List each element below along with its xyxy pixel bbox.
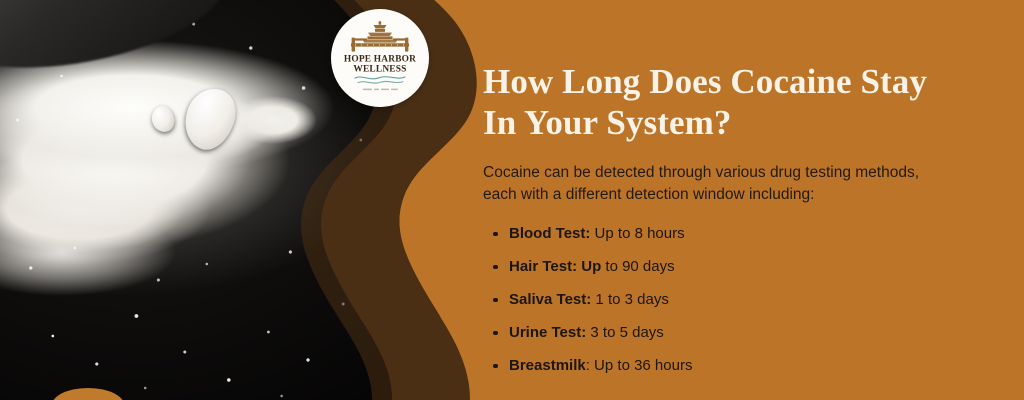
page-title: How Long Does Cocaine Stay In Your Syste… xyxy=(483,62,995,144)
list-item-value: to 90 days xyxy=(601,258,674,275)
list-item-label: Urine Test: xyxy=(509,324,586,341)
logo-artwork: HOPE HARBOR WELLNESS xyxy=(331,9,429,107)
list-item: Saliva Test: 1 to 3 days xyxy=(509,292,995,307)
water-waves-icon xyxy=(355,77,405,83)
list-item: Hair Test: Up to 90 days xyxy=(509,259,995,274)
list-item-value: : Up to 36 hours xyxy=(586,357,693,374)
headline-line-2: In Your System? xyxy=(483,103,731,142)
headline-line-1: How Long Does Cocaine Stay xyxy=(483,62,927,101)
pan-rim-highlight xyxy=(0,0,239,90)
logo-tagline xyxy=(363,89,398,91)
subheadline: Cocaine can be detected through various … xyxy=(483,162,953,206)
article-hero-banner: HOPE HARBOR WELLNESS How Long Does Cocai… xyxy=(0,0,1024,400)
list-item-label: Saliva Test: xyxy=(509,291,591,308)
list-item: Urine Test: 3 to 5 days xyxy=(509,325,995,340)
list-item-label: Breastmilk xyxy=(509,357,586,374)
hero-copy: How Long Does Cocaine Stay In Your Syste… xyxy=(483,62,995,373)
logo-line2: WELLNESS xyxy=(353,65,406,75)
list-item-label: Hair Test: Up xyxy=(509,258,601,275)
detection-window-list: Blood Test: Up to 8 hours Hair Test: Up … xyxy=(483,226,995,373)
logo-line1: HOPE HARBOR xyxy=(344,54,416,64)
hope-harbor-wellness-logo[interactable]: HOPE HARBOR WELLNESS xyxy=(331,9,429,107)
list-item-value: Up to 8 hours xyxy=(590,225,684,242)
pier-gazebo-icon xyxy=(351,21,409,51)
list-item: Breastmilk: Up to 36 hours xyxy=(509,358,995,373)
powder-chunk-large xyxy=(178,83,241,156)
subheadline-line-1: Cocaine can be detected through various … xyxy=(483,164,851,181)
list-item-value: 3 to 5 days xyxy=(586,324,664,341)
powder-chunk-small xyxy=(150,104,177,134)
list-item-label: Blood Test: xyxy=(509,225,590,242)
list-item: Blood Test: Up to 8 hours xyxy=(509,226,995,241)
list-item-value: 1 to 3 days xyxy=(591,291,669,308)
